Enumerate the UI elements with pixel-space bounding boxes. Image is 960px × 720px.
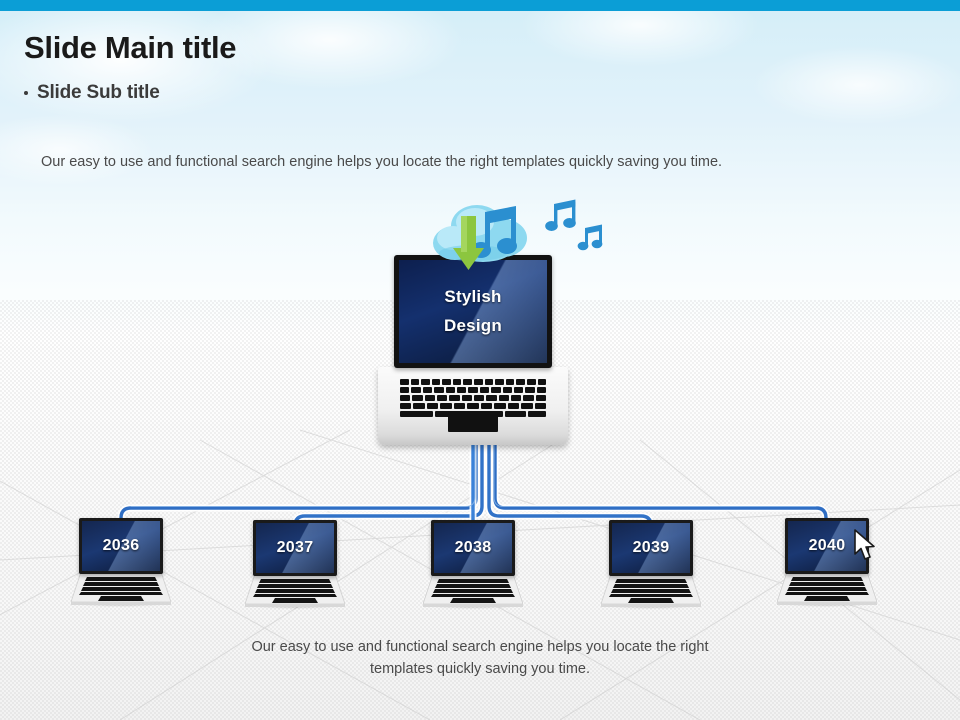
mouse-pointer-icon: [853, 529, 879, 563]
laptop-lid: 2037: [253, 520, 337, 576]
page-title: Slide Main title: [24, 30, 236, 66]
main-laptop-keyboard: [400, 379, 546, 419]
node-year-label: 2036: [103, 537, 140, 555]
subtitle-label: Slide Sub title: [37, 82, 160, 104]
node-year-label: 2037: [277, 539, 314, 557]
main-laptop-screen: Stylish Design: [399, 260, 547, 363]
laptop-lid: 2039: [609, 520, 693, 576]
bottom-caption: Our easy to use and functional search en…: [230, 636, 730, 680]
top-accent-bar: [0, 0, 960, 11]
node-laptop-2037[interactable]: 2037: [245, 520, 345, 610]
laptop-lid: 2038: [431, 520, 515, 576]
music-note-icon: [578, 225, 603, 251]
body-paragraph: Our easy to use and functional search en…: [41, 152, 741, 173]
node-laptop-2039[interactable]: 2039: [601, 520, 701, 610]
laptop-screen: 2036: [82, 521, 160, 571]
laptop-screen: 2037: [256, 523, 334, 573]
laptop-base-icon: [777, 572, 877, 608]
music-note-icon: [545, 200, 576, 232]
main-laptop-base: [378, 367, 568, 445]
laptop-base-icon: [423, 574, 523, 610]
node-laptop-2038[interactable]: 2038: [423, 520, 523, 610]
cloud-download-graphic: [425, 198, 620, 273]
bullet-icon: [24, 91, 28, 95]
laptop-base-icon: [245, 574, 345, 610]
node-laptop-2036[interactable]: 2036: [71, 518, 171, 608]
slide-subtitle: Slide Sub title: [24, 82, 160, 104]
main-laptop[interactable]: Stylish Design: [378, 255, 568, 447]
laptop-screen: 2038: [434, 523, 512, 573]
node-year-label: 2038: [455, 539, 492, 557]
laptop-lid: 2036: [79, 518, 163, 574]
main-screen-line-1: Stylish: [444, 287, 501, 307]
main-screen-line-2: Design: [444, 316, 502, 336]
laptop-screen: 2039: [612, 523, 690, 573]
slide-canvas: Slide Main title Slide Sub title Our eas…: [0, 0, 960, 720]
node-year-label: 2040: [809, 537, 846, 555]
laptop-base-icon: [71, 572, 171, 608]
main-laptop-trackpad: [448, 414, 498, 432]
laptop-base-icon: [601, 574, 701, 610]
node-year-label: 2039: [633, 539, 670, 557]
